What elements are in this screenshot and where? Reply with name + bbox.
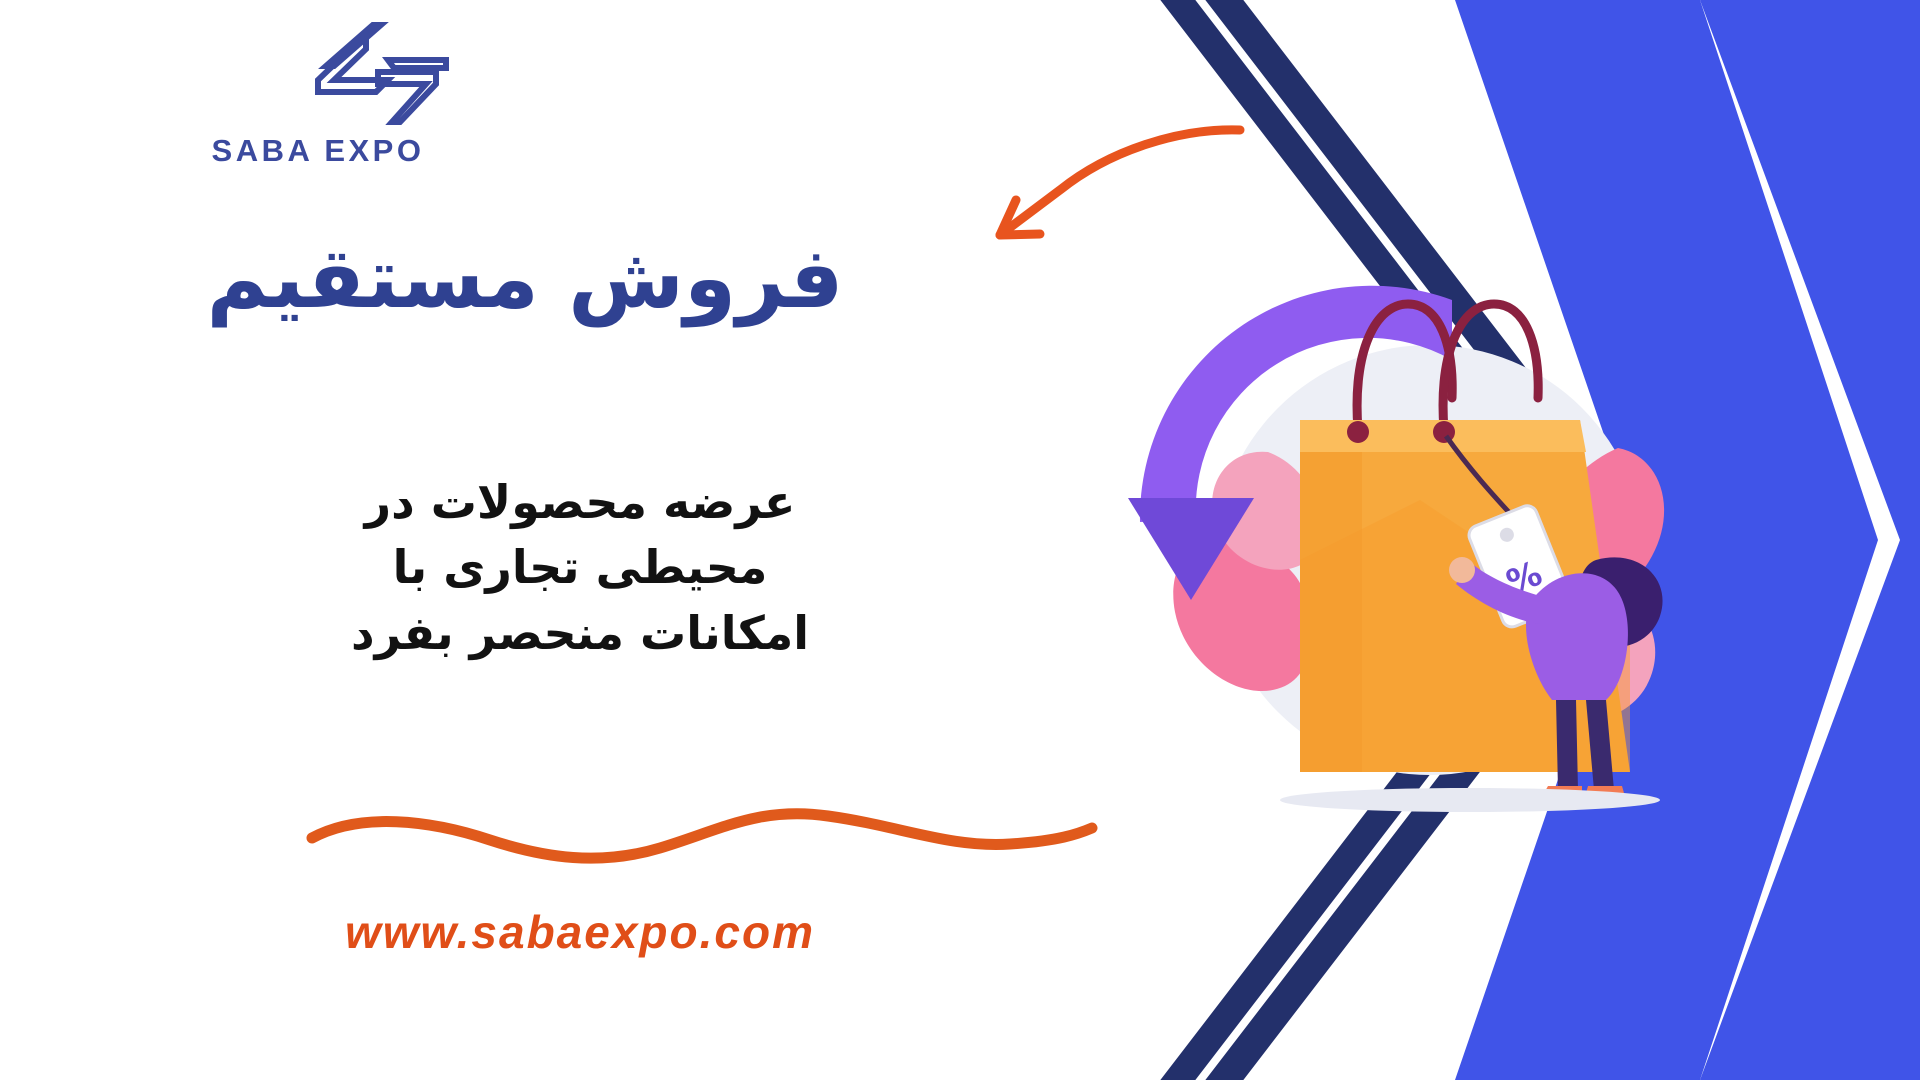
subtitle-line-2: محیطی تجاری با [300,535,860,600]
bag-top-edge [1300,420,1586,452]
bag-body-fold [1300,500,1630,772]
bag-handle-right [1443,304,1538,430]
person-legs [1556,700,1614,790]
page-title: فروش مستقیم [0,236,1050,320]
illustration-pink-blob-left [1173,535,1312,691]
website-url[interactable]: www.sabaexpo.com [300,905,860,959]
subtitle-line-1: عرضه محصولات در [300,470,860,535]
person-arm [1456,562,1540,624]
illustration-purple-arc [1140,286,1452,522]
navy-chevron-stroke-2 [1190,0,1658,1080]
person-hand [1449,557,1475,583]
illustration-pink-blob-left-2 [1212,452,1321,570]
brand-logo-text: SABA EXPO [178,133,458,169]
blue-chevron-wedge [1455,0,1878,1080]
bag-body-shade [1300,420,1362,772]
brand-logo[interactable]: SABA EXPO [178,22,458,169]
person-hair [1578,557,1662,647]
bag-handle-dot-left [1347,421,1369,443]
bag-handle-dot-right [1433,421,1455,443]
person-body [1526,573,1628,700]
price-tag-string [1446,436,1516,520]
saba-expo-mark-icon [308,22,458,127]
bag-body [1300,420,1630,772]
floor-shadow [1280,788,1660,812]
navy-chevron-stroke-1 [1145,0,1610,1080]
promo-banner: SABA EXPO فروش مستقیم عرضه محصولات در مح… [0,0,1920,1080]
subtitle-line-3: امکانات منحصر بفرد [300,601,860,666]
illustration-pink-blob-right [1540,448,1664,602]
illustration-grey-blob [1215,345,1645,775]
illustration-purple-arrowhead [1128,498,1254,600]
svg-text:%: % [1501,553,1548,603]
price-tag: % [1466,503,1573,630]
subtitle: عرضه محصولات در محیطی تجاری با امکانات م… [300,470,860,666]
person-shoes [1540,786,1626,800]
illustration-pink-blob-right-2 [1542,594,1655,720]
blue-chevron-large [1700,0,1920,1080]
bag-handle-left [1357,304,1452,430]
